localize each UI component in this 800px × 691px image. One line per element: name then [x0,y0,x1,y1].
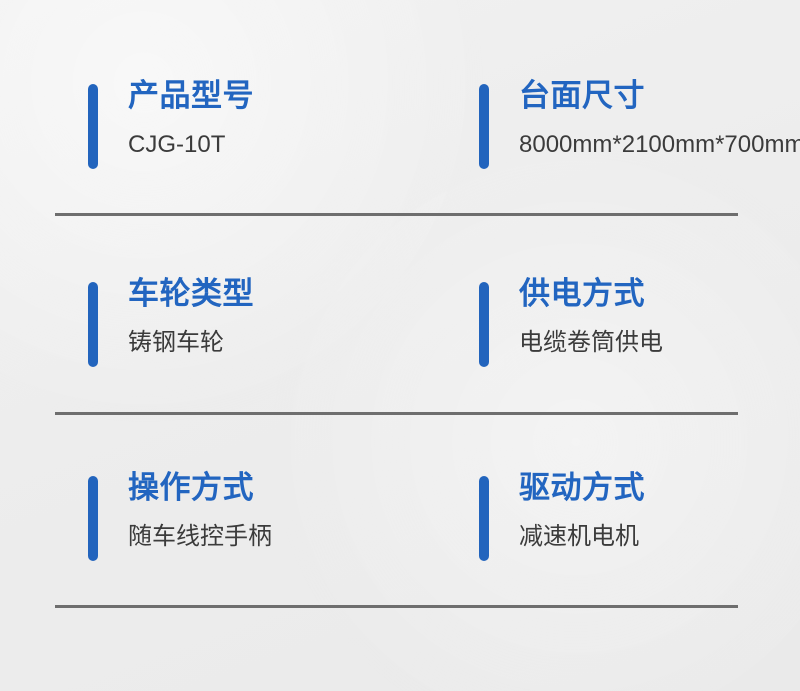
spec-item-value: 电缆卷筒供电 [519,314,800,360]
accent-bar-icon [88,84,98,169]
spec-item-text: 驱动方式 减速机电机 [519,468,800,554]
spec-item-product-model: 产品型号 CJG-10T [88,76,458,184]
accent-bar-icon [88,476,98,561]
spec-item-title: 台面尺寸 [519,76,800,116]
accent-bar-icon [88,282,98,367]
spec-item-text: 供电方式 电缆卷筒供电 [519,274,800,360]
spec-item-drive-mode: 驱动方式 减速机电机 [479,468,789,576]
spec-item-operation-mode: 操作方式 随车线控手柄 [88,468,458,576]
row-divider [55,605,738,608]
accent-bar-icon [479,282,489,367]
spec-item-title: 车轮类型 [128,274,458,314]
spec-item-text: 车轮类型 铸钢车轮 [128,274,458,360]
accent-bar-icon [479,476,489,561]
spec-item-title: 驱动方式 [519,468,800,508]
row-divider [55,213,738,216]
spec-row: 车轮类型 铸钢车轮 供电方式 电缆卷筒供电 [0,274,800,382]
spec-row: 产品型号 CJG-10T 台面尺寸 8000mm*2100mm*700mm [0,76,800,184]
spec-item-text: 产品型号 CJG-10T [128,76,458,162]
spec-item-value: 铸钢车轮 [128,314,458,360]
spec-item-value: 减速机电机 [519,508,800,554]
spec-item-power-supply: 供电方式 电缆卷筒供电 [479,274,789,382]
spec-item-wheel-type: 车轮类型 铸钢车轮 [88,274,458,382]
spec-row: 操作方式 随车线控手柄 驱动方式 减速机电机 [0,468,800,576]
spec-item-text: 台面尺寸 8000mm*2100mm*700mm [519,76,800,162]
spec-item-text: 操作方式 随车线控手柄 [128,468,458,554]
spec-item-title: 产品型号 [128,76,458,116]
spec-item-value: CJG-10T [128,116,458,162]
spec-item-title: 供电方式 [519,274,800,314]
spec-item-table-size: 台面尺寸 8000mm*2100mm*700mm [479,76,789,184]
spec-item-title: 操作方式 [128,468,458,508]
row-divider [55,412,738,415]
spec-item-value: 8000mm*2100mm*700mm [519,116,800,162]
product-spec-sheet: 产品型号 CJG-10T 台面尺寸 8000mm*2100mm*700mm 车轮… [0,0,800,691]
accent-bar-icon [479,84,489,169]
spec-item-value: 随车线控手柄 [128,508,458,554]
